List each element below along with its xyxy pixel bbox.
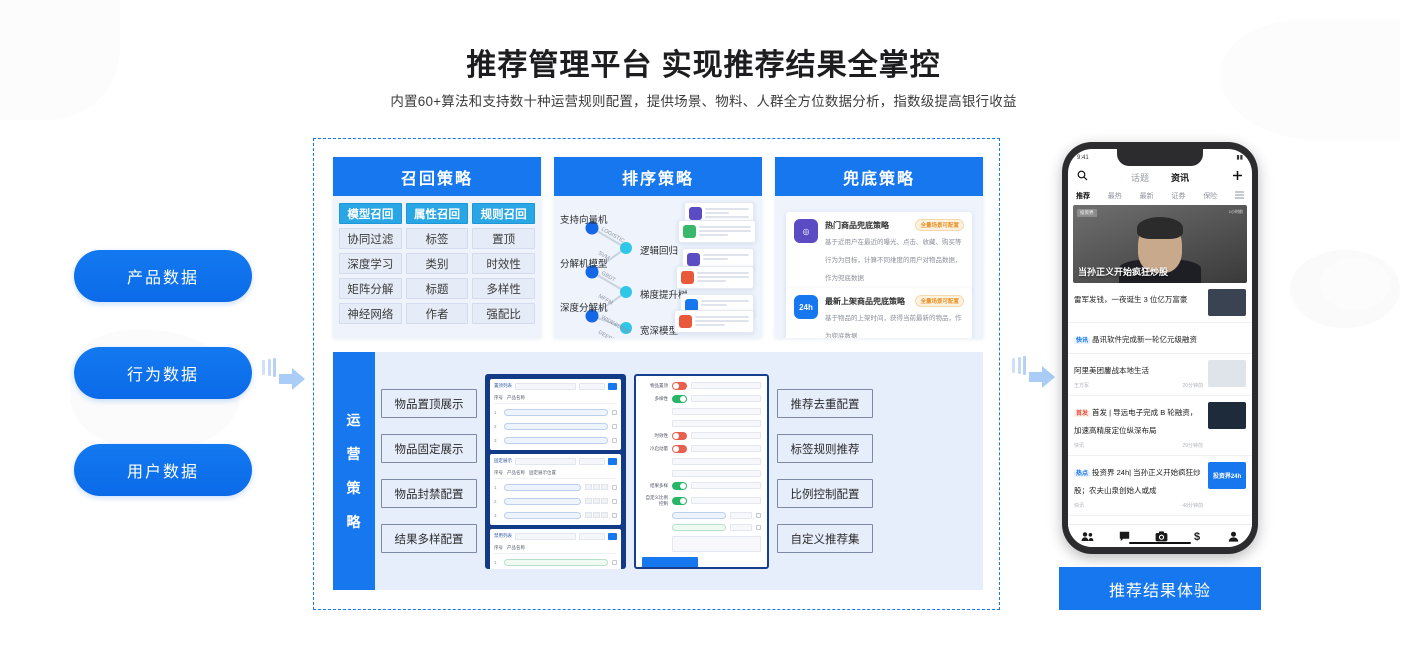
form-input[interactable] xyxy=(672,458,761,465)
page-title: 推荐管理平台 实现推荐结果全掌控 xyxy=(0,40,1407,84)
phone-mockup: 9:41 ▮▮ 话题 资讯 推荐 最热 最新 证券 xyxy=(1062,142,1258,554)
ranking-node-label: 深度分解机 xyxy=(560,300,608,314)
feed-item[interactable]: 首发首发 | 导远电子完成 B 轮融资，加速高精度定位纵深布局 快讯 29分钟前 xyxy=(1068,396,1252,456)
phone-notch xyxy=(1117,149,1203,166)
ops-button-item-fixed[interactable]: 物品固定展示 xyxy=(381,434,477,463)
mini-name-input[interactable] xyxy=(579,533,605,540)
money-icon[interactable]: $ xyxy=(1194,530,1203,542)
recall-column-header[interactable]: 属性召回 xyxy=(406,203,469,224)
input-pill-product-data[interactable]: 产品数据 xyxy=(74,250,252,302)
home-indicator xyxy=(1129,542,1191,545)
ops-button-item-ban[interactable]: 物品封禁配置 xyxy=(381,479,477,508)
row-chip xyxy=(504,437,608,444)
card-icon xyxy=(683,225,696,238)
flow-arrow-left xyxy=(262,358,279,377)
ops-button-tag-rule[interactable]: 标签规则推荐 xyxy=(777,434,873,463)
people-icon[interactable] xyxy=(1081,531,1094,542)
mini-toolbar: 禁用列表 xyxy=(494,533,617,540)
feed-item-source: 快讯 xyxy=(1074,442,1084,449)
feed-item-title: 热点投资界 24h| 当孙正义开始疯狂炒股；农夫山泉创始人或成 xyxy=(1074,468,1201,495)
feed-item[interactable]: 阿里美团鏖战本地生活 王方军 20分钟前 xyxy=(1068,354,1252,396)
panel-title: 召回策略 xyxy=(333,157,541,196)
recall-cell[interactable]: 标题 xyxy=(406,278,469,299)
fallback-card-title-row: 最新上架商品兜底策略 全量场景可配置 xyxy=(825,295,964,307)
feed-item-source: 王方军 xyxy=(1074,382,1089,389)
recall-column-header[interactable]: 规则召回 xyxy=(472,203,535,224)
fallback-card-title: 最新上架商品兜底策略 xyxy=(825,296,905,307)
mini-col: 产品名称 xyxy=(507,545,525,551)
recall-cell[interactable]: 神经网络 xyxy=(339,303,402,324)
ratio-chip xyxy=(672,524,726,531)
row-chip xyxy=(504,484,581,491)
feed-item-time: 29分钟前 xyxy=(1182,442,1203,449)
arrow-motion-bars-icon xyxy=(262,358,276,377)
status-badge: 全量场景可配置 xyxy=(915,219,964,231)
row-chip xyxy=(504,559,608,566)
form-label: 冷启动量 xyxy=(642,446,668,452)
segment-topic[interactable]: 话题 xyxy=(1131,171,1149,184)
form-row: 多样性 xyxy=(642,395,761,403)
card-icon xyxy=(687,253,700,266)
operations-side-label: 运 营 策 略 xyxy=(333,352,375,590)
side-label-char: 营 xyxy=(347,444,362,464)
ops-button-custom-set[interactable]: 自定义推荐集 xyxy=(777,524,873,553)
phone-header: 话题 资讯 xyxy=(1068,166,1252,189)
form-input[interactable] xyxy=(672,408,761,415)
form-row: 冷启动量 xyxy=(642,445,761,453)
feed-item[interactable]: 热点投资界 24h| 当孙正义开始疯狂炒股；农夫山泉创始人或成 快讯 48分钟前… xyxy=(1068,456,1252,516)
hero-photo-hair xyxy=(1137,217,1183,239)
feed-item-thumb: 投资界24h xyxy=(1208,462,1246,489)
panel-recall-strategy: 召回策略 模型召回 属性召回 规则召回 协同过滤 标签 置顶 深度学习 类别 时… xyxy=(333,157,541,338)
card-lines xyxy=(697,271,749,284)
form-input[interactable] xyxy=(730,512,752,519)
form-row xyxy=(642,420,761,427)
recall-cell[interactable]: 强配比 xyxy=(472,303,535,324)
tab-hot[interactable]: 最热 xyxy=(1108,191,1122,201)
mini-name-input[interactable] xyxy=(579,383,605,390)
feed-item-title: 雷军发钱，一夜诞生 3 位亿万富豪 xyxy=(1074,295,1187,304)
phone-screen: 9:41 ▮▮ 话题 资讯 推荐 最热 最新 证券 xyxy=(1068,149,1252,547)
recall-cell[interactable]: 类别 xyxy=(406,253,469,274)
mini-date-input[interactable] xyxy=(515,458,576,465)
operations-band: 运 营 策 略 物品置顶展示 物品固定展示 物品封禁配置 结果多样配置 置顶列表 xyxy=(333,352,983,590)
row-checkbox[interactable] xyxy=(612,499,617,504)
phone-tabs: 推荐 最热 最新 证券 保险 xyxy=(1068,189,1252,205)
side-label-char: 策 xyxy=(347,478,362,498)
row-index: 1 xyxy=(494,560,500,565)
ranking-result-card xyxy=(678,220,756,243)
mini-section-title: 置顶列表 xyxy=(494,383,512,389)
page-subtitle: 内置60+算法和支持数十种运营规则配置，提供场景、物料、人群全方位数据分析，指数… xyxy=(0,90,1407,110)
operations-content: 物品置顶展示 物品固定展示 物品封禁配置 结果多样配置 置顶列表 序号 产 xyxy=(375,352,983,590)
phone-segments: 话题 资讯 xyxy=(1131,171,1189,184)
arrow-motion-bars-icon xyxy=(1012,356,1026,375)
form-input[interactable] xyxy=(691,497,761,504)
screenshot-save-button[interactable] xyxy=(642,557,698,568)
card-lines xyxy=(705,207,749,220)
row-checkbox[interactable] xyxy=(612,424,617,429)
fallback-card-desc: 基于近用户在最近的曝光、点击、收藏、购买等行为为目标，计算不同维度的用户对物品数… xyxy=(825,239,962,282)
ops-button-item-pin[interactable]: 物品置顶展示 xyxy=(381,389,477,418)
mini-table-row: 3 xyxy=(494,435,617,446)
fallback-card-desc: 基于物品的上架时间，获得当前最新的物品，作为兜底数据 xyxy=(825,315,962,338)
feed-item-thumb xyxy=(1208,360,1246,387)
page-root: 推荐管理平台 实现推荐结果全掌控 内置60+算法和支持数十种运营规则配置，提供场… xyxy=(0,0,1407,672)
panel-title: 排序策略 xyxy=(554,157,762,196)
row-chip xyxy=(504,409,608,416)
ops-button-dedupe[interactable]: 推荐去重配置 xyxy=(777,389,873,418)
feed-item-title-text: 晶讯软件完成新一轮亿元级融资 xyxy=(1092,335,1197,344)
ranking-diagram: LOGISTIC SVM GBDT MFFM WIDE&DEEP DEEPFM … xyxy=(554,196,762,338)
mini-table-header: 序号 产品名称 固定展示位置 xyxy=(494,468,617,479)
recall-cell[interactable]: 多样性 xyxy=(472,278,535,299)
feed-item-title-text: 投资界 24h| 当孙正义开始疯狂炒股；农夫山泉创始人或成 xyxy=(1074,468,1201,495)
feed-item-thumb xyxy=(1208,402,1246,429)
status-time: 9:41 xyxy=(1077,155,1089,161)
form-label: 多样性 xyxy=(642,396,668,402)
row-chip xyxy=(504,498,581,505)
recall-cell[interactable]: 置顶 xyxy=(472,228,535,249)
mini-table-header: 序号 产品名称 xyxy=(494,393,617,404)
form-input[interactable] xyxy=(691,395,761,402)
fallback-card-hot-items[interactable]: ◎ 热门商品兜底策略 全量场景可配置 基于近用户在最近的曝光、点击、收藏、购买等… xyxy=(786,212,972,292)
card-icon xyxy=(679,315,692,328)
fallback-card-title: 热门商品兜底策略 xyxy=(825,220,889,231)
feed-item-text: 热点投资界 24h| 当孙正义开始疯狂炒股；农夫山泉创始人或成 快讯 48分钟前 xyxy=(1074,462,1203,509)
row-checkbox[interactable] xyxy=(756,513,761,518)
feed-item-title-text: 首发 | 导远电子完成 B 轮融资，加速高精度定位纵深布局 xyxy=(1074,408,1197,435)
row-index: 3 xyxy=(494,438,500,443)
ranking-result-card xyxy=(674,310,754,333)
form-row xyxy=(642,536,761,552)
row-checkbox[interactable] xyxy=(612,485,617,490)
card-icon xyxy=(689,207,702,220)
ranking-node-label: 逻辑回归 xyxy=(640,243,678,257)
calendar-24h-icon: 24h xyxy=(794,295,818,319)
ranking-node-label: 支持向量机 xyxy=(560,212,608,226)
form-row xyxy=(642,512,761,519)
input-pill-behavior-data[interactable]: 行为数据 xyxy=(74,347,252,399)
feed-item-text: 快讯晶讯软件完成新一轮亿元级融资 xyxy=(1074,329,1246,347)
ranking-result-card xyxy=(676,266,754,289)
form-input[interactable] xyxy=(730,524,752,531)
ranking-node-label: 宽深模型 xyxy=(640,323,678,337)
mini-card-ban-list: 禁用列表 序号 产品名称 1 2 3 xyxy=(490,529,621,569)
toggle-switch[interactable] xyxy=(672,445,687,453)
row-stepper[interactable] xyxy=(585,512,608,518)
tab-new[interactable]: 最新 xyxy=(1140,191,1154,201)
search-icon[interactable] xyxy=(1077,168,1088,186)
operations-right-buttons: 推荐去重配置 标签规则推荐 比例控制配置 自定义推荐集 xyxy=(777,389,873,553)
form-row: 结果多样 xyxy=(642,482,761,490)
mini-table-header: 序号 产品名称 xyxy=(494,543,617,554)
row-checkbox[interactable] xyxy=(612,438,617,443)
form-row xyxy=(642,458,761,465)
feed-item-text: 首发首发 | 导远电子完成 B 轮融资，加速高精度定位纵深布局 快讯 29分钟前 xyxy=(1074,402,1203,449)
recall-cell[interactable]: 时效性 xyxy=(472,253,535,274)
mini-section-title: 固定展示 xyxy=(494,458,512,464)
ops-button-result-diversity[interactable]: 结果多样配置 xyxy=(381,524,477,553)
recall-cell[interactable]: 矩阵分解 xyxy=(339,278,402,299)
panel-body: 模型召回 属性召回 规则召回 协同过滤 标签 置顶 深度学习 类别 时效性 矩阵… xyxy=(333,196,541,338)
form-label: 结果多样 xyxy=(642,483,668,489)
feed-item-meta: 王方军 20分钟前 xyxy=(1074,382,1203,389)
mini-table-row: 2 xyxy=(494,421,617,432)
form-row: 自定义比例控制 xyxy=(642,495,761,507)
recall-cell[interactable]: 标签 xyxy=(406,228,469,249)
mini-col: 产品名称 xyxy=(507,395,525,401)
form-input[interactable] xyxy=(691,432,761,439)
mini-col: 序号 xyxy=(494,545,503,551)
status-icons: ▮▮ xyxy=(1236,154,1243,161)
mini-table-row: 2 xyxy=(494,496,617,507)
toggle-switch[interactable] xyxy=(672,482,687,490)
row-chip xyxy=(504,512,581,519)
form-row xyxy=(642,524,761,531)
row-index: 2 xyxy=(494,499,500,504)
operations-left-buttons: 物品置顶展示 物品固定展示 物品封禁配置 结果多样配置 xyxy=(381,389,477,553)
row-checkbox[interactable] xyxy=(612,410,617,415)
feed-item[interactable]: 雷军发钱，一夜诞生 3 位亿万富豪 xyxy=(1068,283,1252,323)
row-index: 2 xyxy=(494,424,500,429)
card-lines xyxy=(695,315,749,328)
row-checkbox[interactable] xyxy=(756,525,761,530)
hero-caption: 当孙正义开始疯狂炒股 xyxy=(1078,265,1168,278)
feed-item-tag: 首发 xyxy=(1074,411,1090,417)
form-row xyxy=(642,470,761,477)
form-row xyxy=(642,408,761,415)
form-input[interactable] xyxy=(691,445,761,452)
feed-item[interactable]: 快讯晶讯软件完成新一轮亿元级融资 xyxy=(1068,323,1252,354)
segment-news[interactable]: 资讯 xyxy=(1171,171,1189,184)
form-row: 物品置顶 xyxy=(642,382,761,390)
recall-cell[interactable]: 作者 xyxy=(406,303,469,324)
panel-body: ◎ 热门商品兜底策略 全量场景可配置 基于近用户在最近的曝光、点击、收藏、购买等… xyxy=(775,196,983,338)
feed-item-time: 20分钟前 xyxy=(1182,382,1203,389)
recall-grid: 模型召回 属性召回 规则召回 协同过滤 标签 置顶 深度学习 类别 时效性 矩阵… xyxy=(333,196,541,331)
mini-toolbar: 置顶列表 xyxy=(494,383,617,390)
row-checkbox[interactable] xyxy=(612,513,617,518)
feed-item-time: 48分钟前 xyxy=(1182,502,1203,509)
input-pill-user-data[interactable]: 用户数据 xyxy=(74,444,252,496)
row-stepper[interactable] xyxy=(585,484,608,490)
toggle-switch[interactable] xyxy=(672,382,687,390)
toggle-switch[interactable] xyxy=(672,395,687,403)
ranking-node-label: 分解机模型 xyxy=(560,256,608,270)
feed-item-tag: 快讯 xyxy=(1074,338,1090,344)
mini-search-button[interactable] xyxy=(608,383,617,390)
flow-arrow-right xyxy=(1012,356,1029,375)
mini-table-row: 3 xyxy=(494,510,617,521)
mini-card-pin-list: 置顶列表 序号 产品名称 1 2 3 xyxy=(490,379,621,450)
form-input[interactable] xyxy=(691,382,761,389)
feed-item-meta: 快讯 29分钟前 xyxy=(1074,442,1203,449)
row-stepper[interactable] xyxy=(585,498,608,504)
side-label-char: 略 xyxy=(347,512,362,532)
mini-search-button[interactable] xyxy=(608,533,617,540)
fallback-card-title-row: 热门商品兜底策略 全量场景可配置 xyxy=(825,219,964,231)
mini-name-input[interactable] xyxy=(579,458,605,465)
recall-column-header[interactable]: 模型召回 xyxy=(339,203,402,224)
form-input[interactable] xyxy=(672,470,761,477)
background-watermark xyxy=(1320,258,1390,310)
row-index: 1 xyxy=(494,410,500,415)
form-label: 自定义比例控制 xyxy=(642,495,668,507)
mini-section-title: 禁用列表 xyxy=(494,533,512,539)
mini-table-row: 1 xyxy=(494,557,617,568)
ops-button-ratio-control[interactable]: 比例控制配置 xyxy=(777,479,873,508)
row-chip xyxy=(504,423,608,430)
profile-icon[interactable] xyxy=(1228,531,1239,542)
feed-item-title: 快讯晶讯软件完成新一轮亿元级融资 xyxy=(1074,335,1197,344)
edge-label: DEEPFM xyxy=(597,330,620,338)
status-badge: 全量场景可配置 xyxy=(915,295,964,307)
feed-item-meta: 快讯 48分钟前 xyxy=(1074,502,1203,509)
row-checkbox[interactable] xyxy=(612,560,617,565)
feed-item-thumb xyxy=(1208,289,1246,316)
form-label: 时效性 xyxy=(642,433,668,439)
form-input[interactable] xyxy=(691,482,761,489)
fallback-card-new-items[interactable]: 24h 最新上架商品兜底策略 全量场景可配置 基于物品的上架时间，获得当前最新的… xyxy=(786,288,972,338)
mini-col: 固定展示位置 xyxy=(529,470,556,476)
mini-date-input[interactable] xyxy=(515,383,576,390)
mini-table-row: 1 xyxy=(494,482,617,493)
side-label-char: 运 xyxy=(347,410,362,430)
recall-cell[interactable]: 协同过滤 xyxy=(339,228,402,249)
tab-recommend[interactable]: 推荐 xyxy=(1076,191,1090,201)
feed-item-title: 阿里美团鏖战本地生活 xyxy=(1074,366,1149,375)
panel-ranking-strategy: 排序策略 xyxy=(554,157,762,338)
screenshot-config-form[interactable]: 物品置顶 多样性 时效性 xyxy=(634,374,769,569)
card-icon xyxy=(681,271,694,284)
compass-icon: ◎ xyxy=(794,219,818,243)
feed-item-title: 首发首发 | 导远电子完成 B 轮融资，加速高精度定位纵深布局 xyxy=(1074,408,1197,435)
menu-icon[interactable] xyxy=(1235,191,1244,201)
row-index: 1 xyxy=(494,485,500,490)
svg-text:$: $ xyxy=(1194,531,1200,542)
mini-date-input[interactable] xyxy=(515,533,576,540)
tab-insurance[interactable]: 保险 xyxy=(1203,191,1217,201)
cta-experience-button[interactable]: 推荐结果体验 xyxy=(1059,567,1261,610)
hero-time: 1小时前 xyxy=(1229,209,1243,215)
feed-item-text: 阿里美团鏖战本地生活 王方军 20分钟前 xyxy=(1074,360,1203,389)
panel-body: LOGISTIC SVM GBDT MFFM WIDE&DEEP DEEPFM … xyxy=(554,196,762,338)
panel-fallback-strategy: 兜底策略 ◎ 热门商品兜底策略 全量场景可配置 基于近用户在最近的曝光、点击、收… xyxy=(775,157,983,338)
form-input[interactable] xyxy=(672,420,761,427)
phone-hero-card[interactable]: 投资界 1小时前 当孙正义开始疯狂炒股 xyxy=(1073,205,1247,283)
form-textarea[interactable] xyxy=(672,536,761,552)
fallback-card-text: 最新上架商品兜底策略 全量场景可配置 基于物品的上架时间，获得当前最新的物品，作… xyxy=(825,295,964,338)
toggle-switch[interactable] xyxy=(672,432,687,440)
fallback-card-text: 热门商品兜底策略 全量场景可配置 基于近用户在最近的曝光、点击、收藏、购买等行为… xyxy=(825,219,964,285)
feed-item-tag: 热点 xyxy=(1074,471,1090,477)
ratio-chip xyxy=(672,512,726,519)
card-lines xyxy=(703,253,749,266)
form-row: 时效性 xyxy=(642,432,761,440)
mini-toolbar: 固定展示 xyxy=(494,458,617,465)
card-lines xyxy=(699,225,751,238)
mini-search-button[interactable] xyxy=(608,458,617,465)
feed-item-source: 快讯 xyxy=(1074,502,1084,509)
add-icon[interactable] xyxy=(1232,168,1243,186)
hero-badge: 投资界 xyxy=(1077,209,1097,217)
panel-title: 兜底策略 xyxy=(775,157,983,196)
mini-table-row: 1 xyxy=(494,407,617,418)
chat-icon[interactable] xyxy=(1119,531,1130,542)
mini-card-fixed-list: 固定展示 序号 产品名称 固定展示位置 1 2 3 xyxy=(490,454,621,525)
mini-col: 序号 xyxy=(494,470,503,476)
form-label: 物品置顶 xyxy=(642,383,668,389)
feed-item-text: 雷军发钱，一夜诞生 3 位亿万富豪 xyxy=(1074,289,1203,307)
screenshot-config-lists[interactable]: 置顶列表 序号 产品名称 1 2 3 固定展示 xyxy=(485,374,626,569)
mini-col: 产品名称 xyxy=(507,470,525,476)
camera-icon[interactable] xyxy=(1155,531,1168,542)
row-index: 3 xyxy=(494,513,500,518)
strategy-panels: 召回策略 模型召回 属性召回 规则召回 协同过滤 标签 置顶 深度学习 类别 时… xyxy=(333,157,983,338)
toggle-switch[interactable] xyxy=(672,497,687,505)
mini-col: 序号 xyxy=(494,395,503,401)
tab-securities[interactable]: 证券 xyxy=(1171,191,1185,201)
recall-cell[interactable]: 深度学习 xyxy=(339,253,402,274)
